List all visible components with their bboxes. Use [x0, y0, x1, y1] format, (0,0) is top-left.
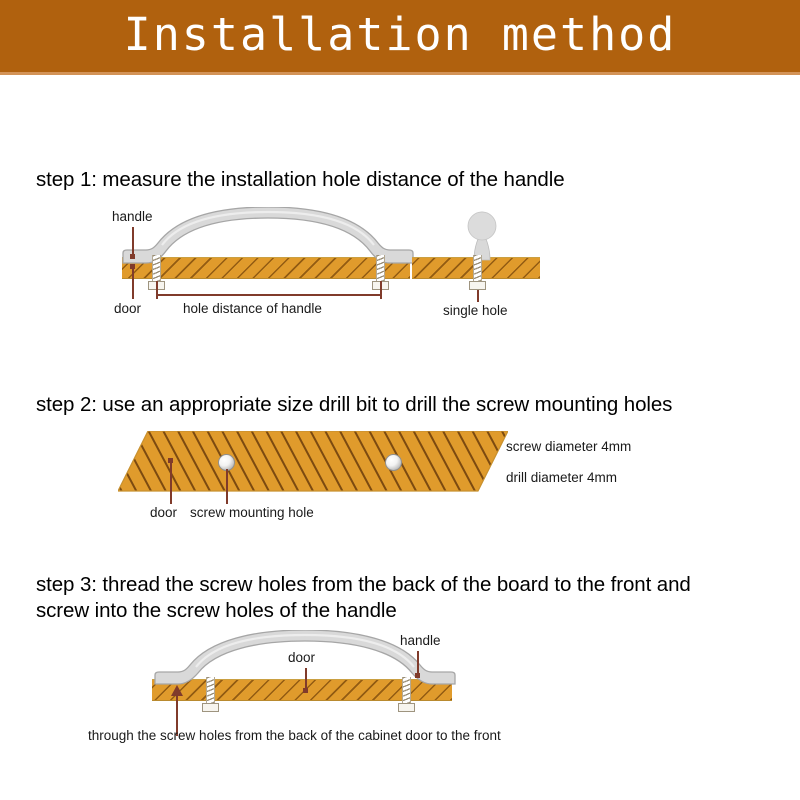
screw-thread: [206, 677, 215, 703]
leader-dot-door: [130, 264, 135, 269]
screw-thread: [152, 255, 161, 281]
insertion-arrow-icon: [171, 685, 183, 696]
leader-door-step3: [305, 668, 307, 690]
label-handle: handle: [112, 209, 153, 224]
handle-arch-icon: [118, 207, 418, 267]
screw-mounting-hole-2: [385, 454, 402, 471]
step-3-diagram: handle door through the screw holes from…: [0, 628, 800, 753]
screw-nut: [202, 703, 219, 712]
leader-door-step2: [170, 462, 172, 504]
step2-door-board: [118, 431, 508, 497]
knob-icon: [452, 210, 512, 262]
screw-thread: [376, 255, 385, 281]
step-1-diagram: handle door hole distance of handle sing…: [0, 205, 800, 320]
step-2-diagram: door screw mounting hole screw diameter …: [0, 425, 800, 535]
label-hole-distance: hole distance of handle: [183, 301, 322, 316]
dimension-tick-right: [380, 281, 382, 299]
leader-dot-door-step3: [303, 688, 308, 693]
screw-left-step3: [206, 677, 215, 703]
header-underline-divider: [0, 72, 800, 75]
label-door-step2: door: [150, 505, 177, 520]
dimension-line-hole-distance: [156, 294, 382, 296]
note-screw-diameter: screw diameter 4mm: [506, 439, 631, 454]
leader-single-hole: [477, 290, 479, 302]
leader-handle: [132, 227, 134, 255]
screw-knob: [473, 255, 482, 281]
label-door-step3: door: [288, 650, 315, 665]
label-screw-mounting-hole: screw mounting hole: [190, 505, 314, 520]
leader-screw-mounting-hole: [226, 469, 228, 504]
caption-step3: through the screw holes from the back of…: [88, 728, 501, 743]
leader-handle-step3: [417, 651, 419, 674]
step-3-heading: step 3: thread the screw holes from the …: [36, 572, 776, 624]
screw-left: [152, 255, 161, 281]
label-handle-step3: handle: [400, 633, 441, 648]
note-drill-diameter: drill diameter 4mm: [506, 470, 617, 485]
label-single-hole: single hole: [443, 303, 508, 318]
step-2-heading: step 2: use an appropriate size drill bi…: [36, 392, 672, 418]
screw-right-step3: [402, 677, 411, 703]
leader-door: [132, 269, 134, 299]
screw-nut: [398, 703, 415, 712]
leader-dot-handle: [130, 254, 135, 259]
step-1-heading: step 1: measure the installation hole di…: [36, 167, 565, 193]
label-door: door: [114, 301, 141, 316]
page-title: Installation method: [0, 8, 800, 61]
screw-thread: [473, 255, 482, 281]
screw-right: [376, 255, 385, 281]
screw-thread: [402, 677, 411, 703]
screw-nut: [469, 281, 486, 290]
dimension-tick-left: [156, 281, 158, 299]
leader-dot-handle-step3: [415, 673, 420, 678]
